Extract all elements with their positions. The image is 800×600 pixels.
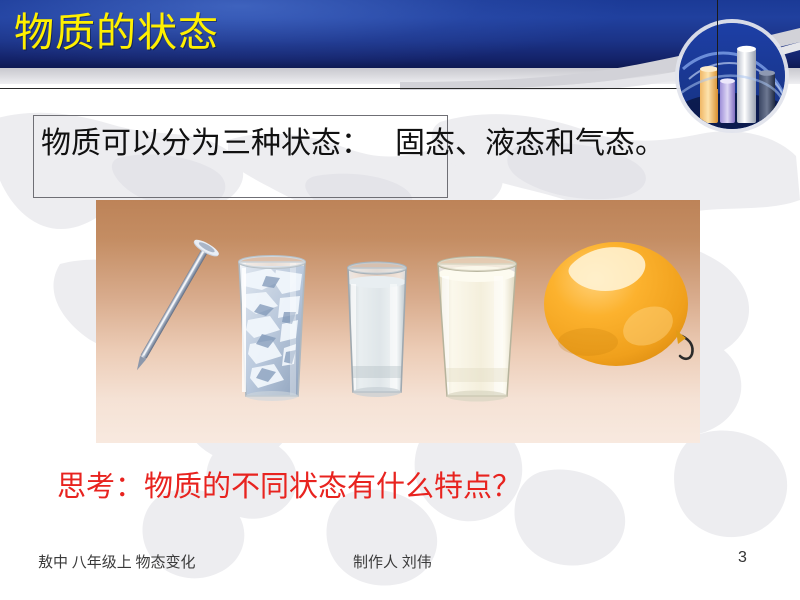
page-title: 物质的状态 <box>14 6 219 60</box>
glass-of-ice-object <box>239 256 305 401</box>
thinking-question: 思考：物质的不同状态有什么特点？ <box>57 466 521 508</box>
states-of-matter-photo <box>96 200 700 443</box>
footer-author-label: 制作人 刘伟 <box>353 551 432 572</box>
header-vertical-rule <box>717 0 718 89</box>
footer-page-number: 3 <box>738 549 747 567</box>
slide-canvas: 物质的状态 <box>0 0 800 600</box>
glass-of-water-object <box>348 262 406 397</box>
abstract-columns-logo <box>679 23 785 129</box>
statement-text: 物质可以分为三种状态：固态、液态和气态。 <box>41 122 781 166</box>
glass-of-milk-object <box>438 257 516 402</box>
statement-boxed-text: 物质可以分为三种状态： <box>41 127 371 160</box>
statement-trailing-text: 固态、液态和气态。 <box>395 127 665 160</box>
header-horizontal-rule <box>0 88 718 89</box>
footer-course-label: 敖中 八年级上 物态变化 <box>38 551 196 572</box>
